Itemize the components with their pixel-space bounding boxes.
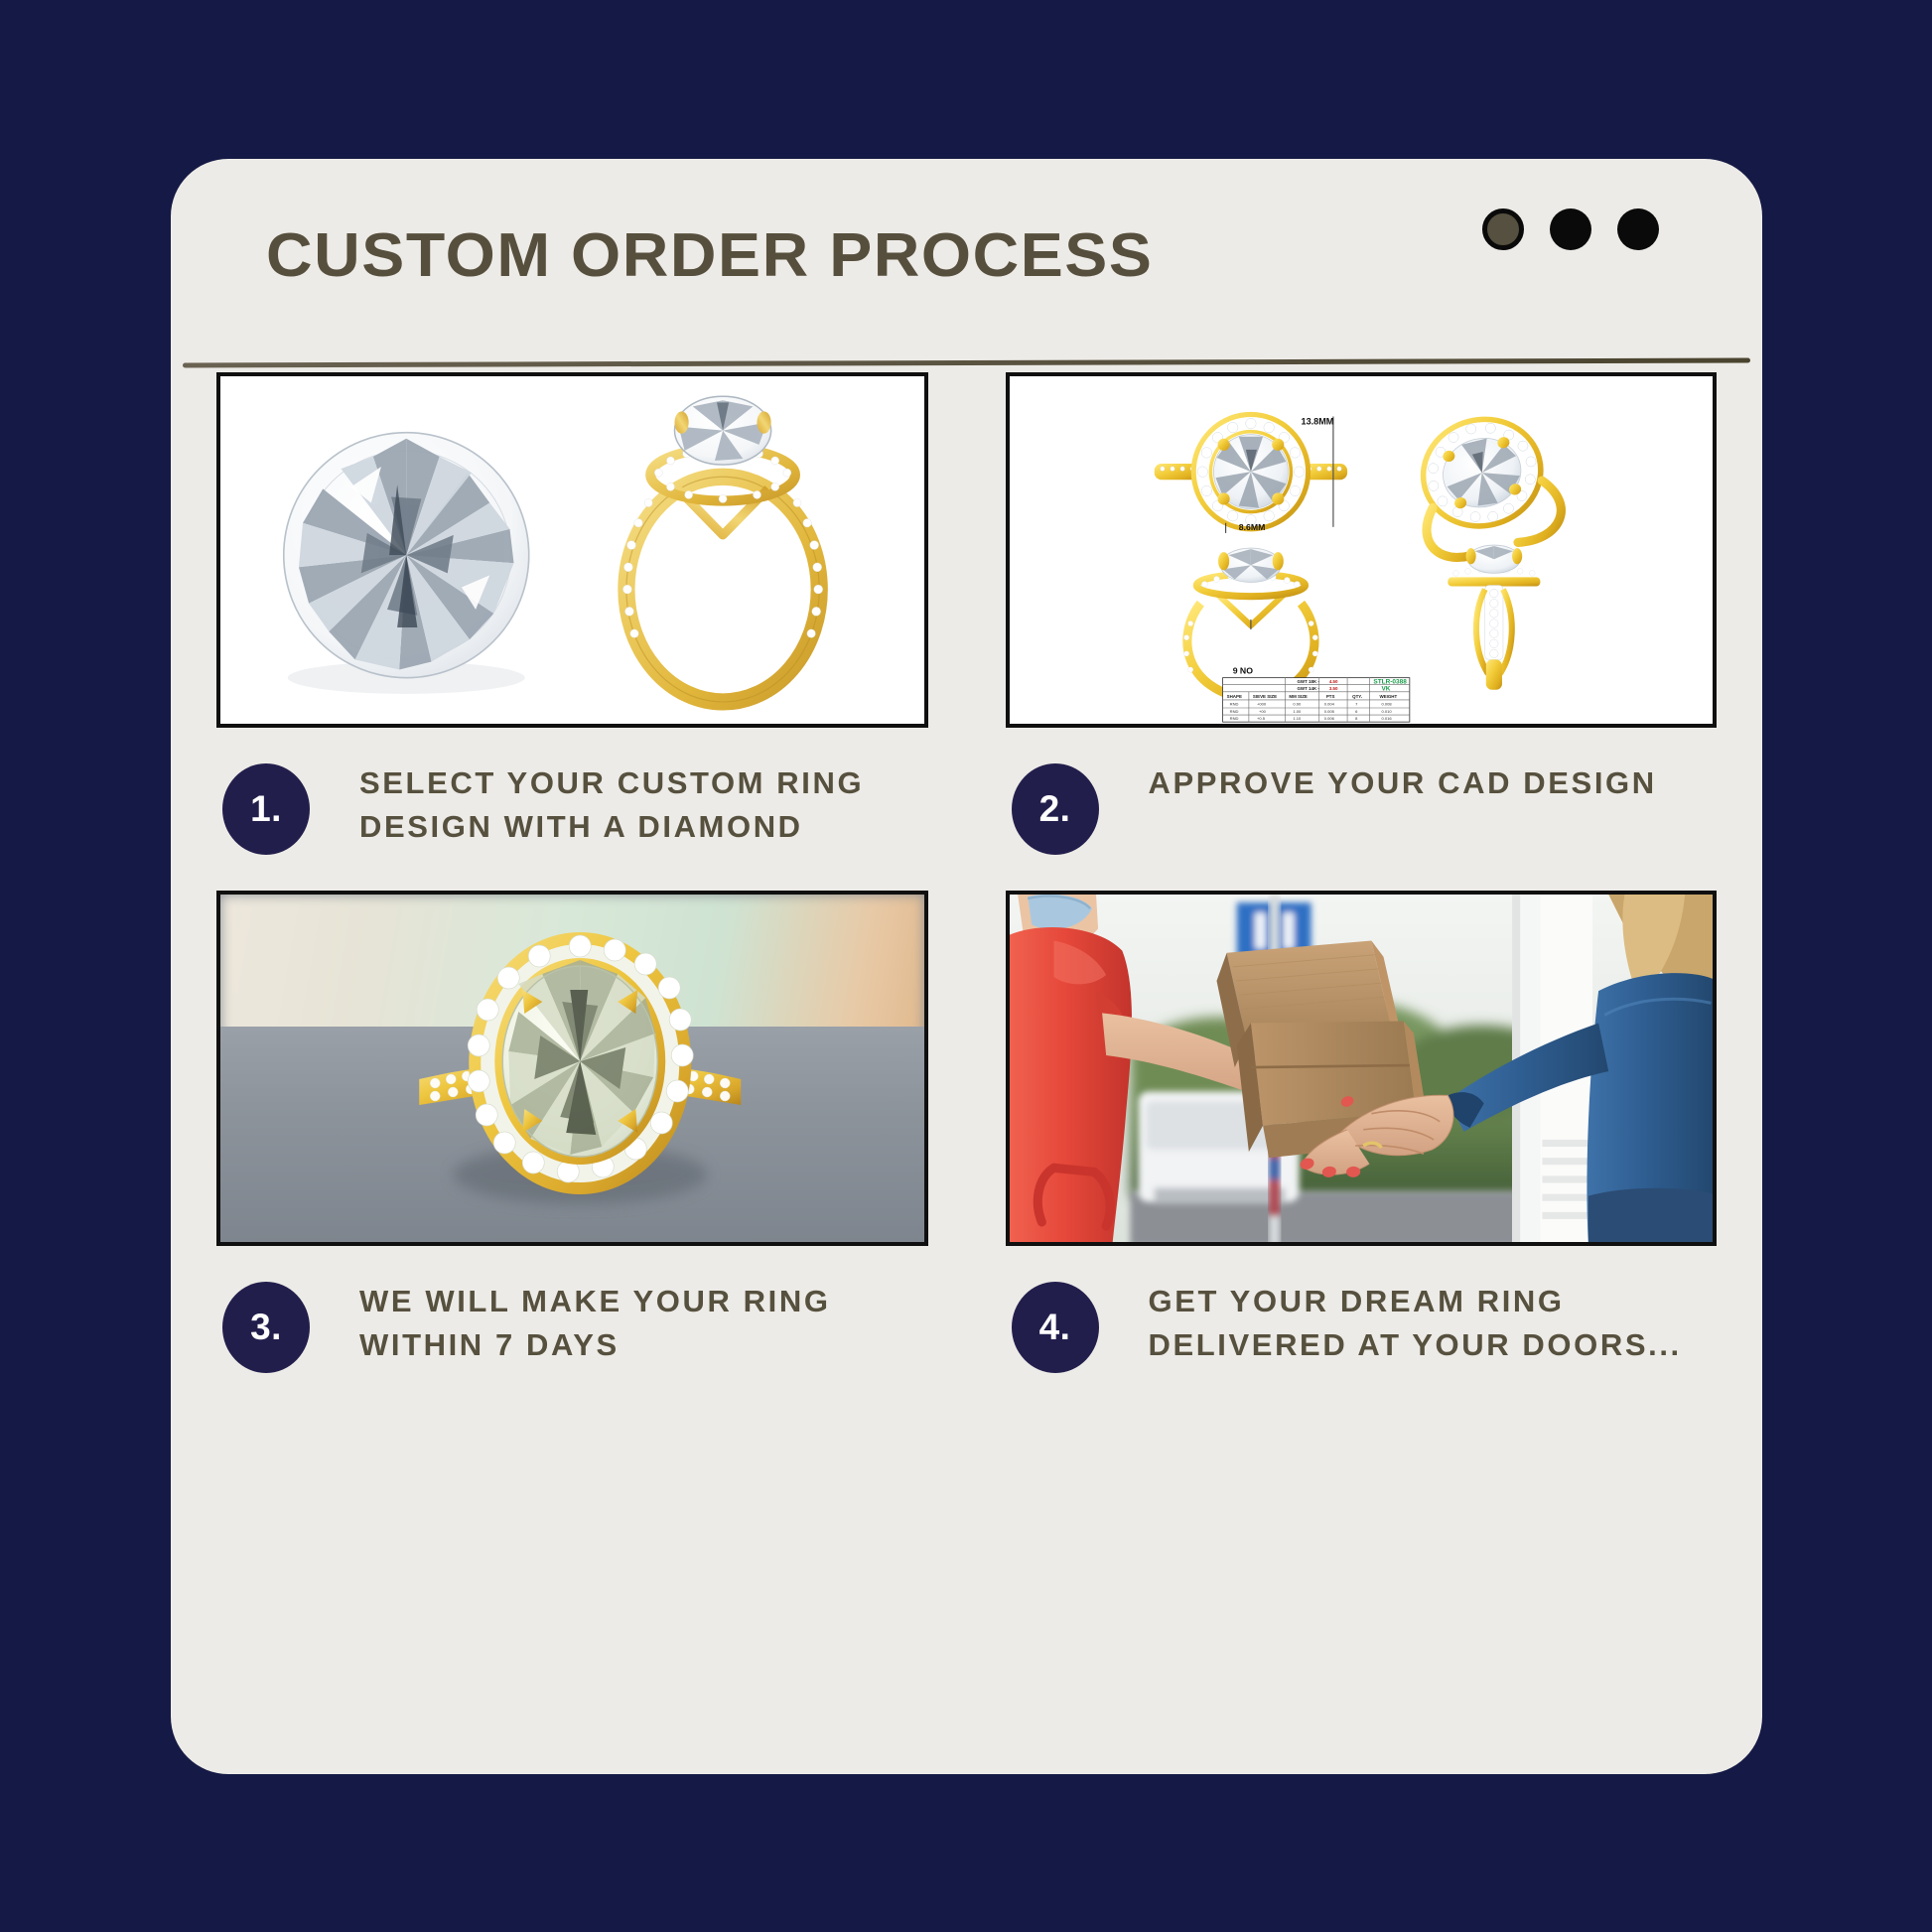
window-dot-olive-icon[interactable] [1482,208,1524,250]
card-header: CUSTOM ORDER PROCESS [171,159,1762,372]
svg-text:13.8MM: 13.8MM [1301,417,1333,427]
step-3-image [216,891,928,1246]
step-3: 3. WE WILL MAKE YOUR RING WITHIN 7 DAYS [216,891,928,1373]
step-2: 13.8MM [1006,372,1718,855]
step-4-image [1006,891,1718,1246]
svg-text:SIEVE SIZE: SIEVE SIZE [1252,694,1276,699]
window-dot-black-icon[interactable] [1617,208,1659,250]
step-3-badge: 3. [222,1282,310,1373]
step-3-caption: 3. WE WILL MAKE YOUR RING WITHIN 7 DAYS [216,1280,928,1373]
window-dots [1482,208,1659,250]
step-1: 1. SELECT YOUR CUSTOM RING DESIGN WITH A… [216,372,928,855]
svg-text:+00: +00 [1259,709,1267,714]
svg-text:0.010: 0.010 [1381,709,1392,714]
svg-text:VK: VK [1381,686,1390,693]
step-2-image: 13.8MM [1006,372,1718,728]
svg-text:1.00: 1.00 [1293,709,1302,714]
window-dot-black-icon[interactable] [1550,208,1591,250]
step-1-badge: 1. [222,763,310,855]
svg-text:MM SIZE: MM SIZE [1289,694,1308,699]
step-4: 4. GET YOUR DREAM RING DELIVERED AT YOUR… [1006,891,1718,1373]
svg-text:STLR-0388: STLR-0388 [1373,679,1407,686]
svg-text:1.10: 1.10 [1293,716,1302,721]
infographic-root: CUSTOM ORDER PROCESS [0,0,1932,1932]
cad-drawing-illustration: 13.8MM [1010,376,1714,728]
loose-diamond-and-ring-illustration [220,376,924,728]
svg-text:0.008: 0.008 [1381,702,1392,707]
step-1-text: SELECT YOUR CUSTOM RING DESIGN WITH A DI… [359,761,915,849]
svg-text:0.90: 0.90 [1293,702,1302,707]
svg-text:RND: RND [1229,709,1238,714]
step-3-text: WE WILL MAKE YOUR RING WITHIN 7 DAYS [359,1280,915,1367]
svg-text:RND: RND [1229,702,1238,707]
svg-text:PTS: PTS [1325,694,1334,699]
step-1-image [216,372,928,728]
svg-text:8.6MM: 8.6MM [1238,522,1265,532]
step-1-caption: 1. SELECT YOUR CUSTOM RING DESIGN WITH A… [216,761,928,855]
svg-text:GWT 14K -: GWT 14K - [1297,686,1319,691]
step-2-badge: 2. [1012,763,1099,855]
process-card: CUSTOM ORDER PROCESS [171,159,1762,1774]
finished-ring-photo-illustration [220,895,924,1242]
delivery-photo-illustration [1010,895,1714,1246]
svg-text:9 NO: 9 NO [1232,666,1253,676]
svg-text:+0.5: +0.5 [1256,716,1265,721]
svg-text:GWT 18K -: GWT 18K - [1297,679,1319,684]
svg-text:SHAPE: SHAPE [1226,694,1241,699]
svg-text:0.004: 0.004 [1323,702,1334,707]
svg-text:0.006: 0.006 [1323,716,1334,721]
svg-text:3.50: 3.50 [1328,686,1337,691]
svg-text:0.005: 0.005 [1323,709,1334,714]
step-4-caption: 4. GET YOUR DREAM RING DELIVERED AT YOUR… [1006,1280,1718,1373]
steps-grid: 1. SELECT YOUR CUSTOM RING DESIGN WITH A… [171,372,1762,1373]
svg-text:+000: +000 [1256,702,1266,707]
svg-text:0.016: 0.016 [1381,716,1392,721]
svg-text:QTY.: QTY. [1352,694,1362,699]
svg-text:4.50: 4.50 [1328,679,1337,684]
page-title: CUSTOM ORDER PROCESS [266,220,1153,291]
svg-text:RND: RND [1229,716,1238,721]
step-2-text: APPROVE YOUR CAD DESIGN [1149,761,1657,805]
step-4-text: GET YOUR DREAM RING DELIVERED AT YOUR DO… [1149,1280,1705,1367]
step-2-caption: 2. APPROVE YOUR CAD DESIGN [1006,761,1718,855]
svg-text:WEIGHT: WEIGHT [1379,694,1397,699]
step-4-badge: 4. [1012,1282,1099,1373]
header-divider [183,358,1750,368]
